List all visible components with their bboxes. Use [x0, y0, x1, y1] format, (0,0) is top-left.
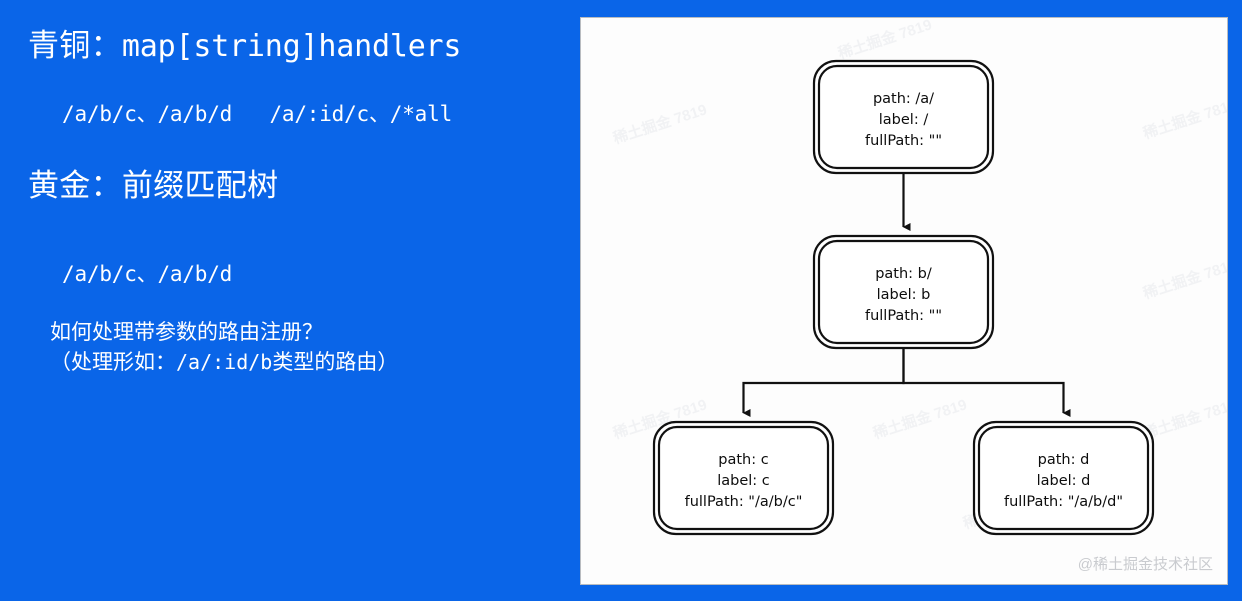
slide-root: 青铜：map[string]handlers /a/b/c、/a/b/d /a/… — [0, 0, 1242, 601]
gold-paths: /a/b/c、/a/b/d — [62, 258, 232, 288]
left-text-column: 青铜：map[string]handlers /a/b/c、/a/b/d /a/… — [0, 0, 575, 601]
node-text-line: label: c — [717, 473, 770, 489]
node-text-line: fullPath: "/a/b/c" — [685, 494, 803, 510]
gold-heading-label: 黄金： — [28, 168, 122, 203]
panel-credit-watermark: @稀土掘金技术社区 — [1078, 553, 1213, 574]
question-line-1: 如何处理带参数的路由注册？ — [50, 318, 398, 348]
question-line-2-code: /a/:id/b — [176, 350, 272, 374]
tree-edge-b-to-c — [744, 348, 904, 413]
bronze-heading-label: 青铜： — [28, 28, 122, 63]
tree-node-d[interactable]: path: dlabel: dfullPath: "/a/b/d" — [974, 422, 1153, 534]
question-block: 如何处理带参数的路由注册？ （处理形如：/a/:id/b类型的路由） — [50, 318, 398, 379]
node-text-line: path: b/ — [875, 266, 932, 282]
node-text-line: label: d — [1037, 473, 1091, 489]
question-line-2-suffix: 类型的路由） — [272, 351, 398, 374]
bronze-paths: /a/b/c、/a/b/d /a/:id/c、/*all — [62, 98, 452, 128]
node-text-line: path: d — [1038, 452, 1090, 468]
bronze-heading: 青铜：map[string]handlers — [28, 27, 461, 65]
node-text-line: fullPath: "/a/b/d" — [1004, 494, 1123, 510]
question-line-2-prefix: （处理形如： — [50, 351, 176, 374]
tree-node-layer: path: /a/label: /fullPath: ""path: b/lab… — [654, 61, 1153, 534]
gold-heading: 黄金：前缀匹配树 — [28, 167, 278, 204]
node-text-line: path: /a/ — [873, 91, 934, 107]
tree-node-b[interactable]: path: b/label: bfullPath: "" — [814, 236, 993, 348]
node-text-line: label: b — [877, 287, 931, 303]
tree-node-c[interactable]: path: clabel: cfullPath: "/a/b/c" — [654, 422, 833, 534]
route-tree-diagram: path: /a/label: /fullPath: ""path: b/lab… — [581, 18, 1228, 585]
tree-node-root[interactable]: path: /a/label: /fullPath: "" — [814, 61, 993, 173]
tree-edge-b-to-d — [904, 348, 1064, 413]
node-text-line: path: c — [718, 452, 768, 468]
bronze-heading-code: map[string]handlers — [122, 29, 461, 64]
node-text-line: fullPath: "" — [865, 133, 942, 149]
diagram-panel: 稀土掘金 7819稀土掘金 7819稀土掘金 7819稀土掘金 7819稀土掘金… — [580, 17, 1228, 585]
question-line-2: （处理形如：/a/:id/b类型的路由） — [50, 348, 398, 378]
node-text-line: label: / — [879, 112, 929, 128]
gold-heading-code: 前缀匹配树 — [122, 168, 279, 203]
node-text-line: fullPath: "" — [865, 308, 942, 324]
